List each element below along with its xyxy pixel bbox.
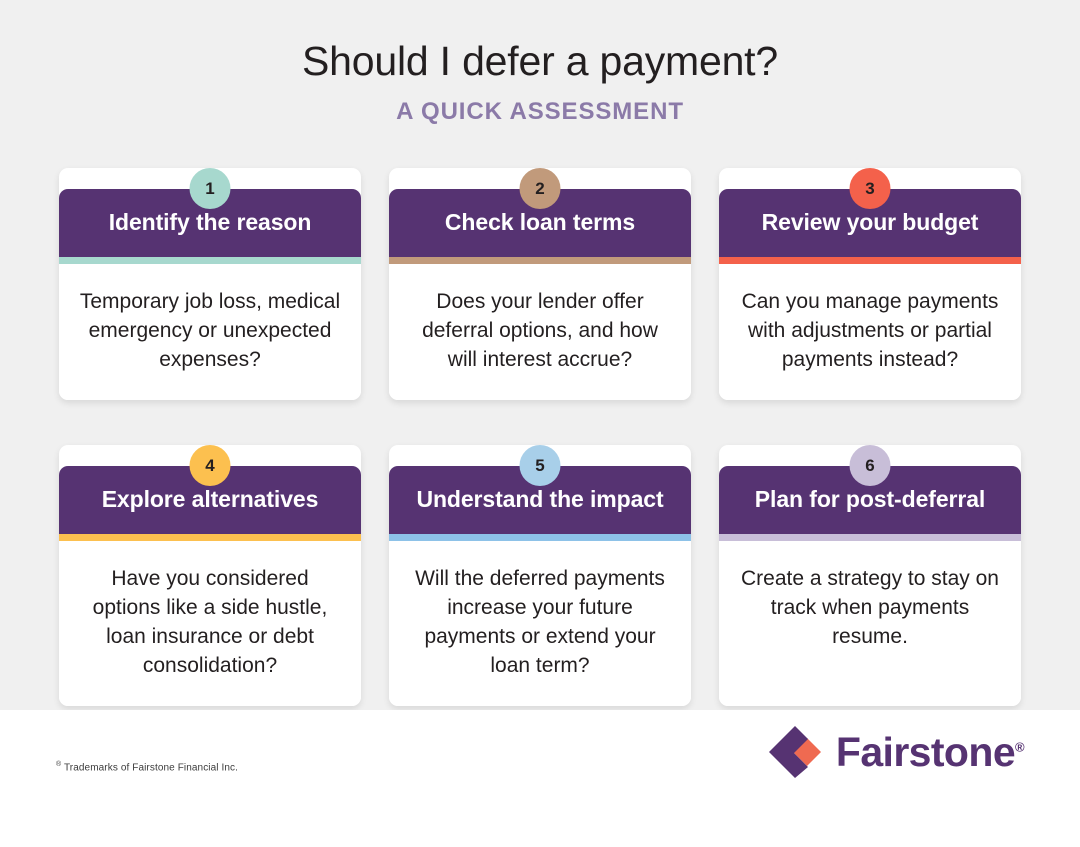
page-subtitle: A QUICK ASSESSMENT xyxy=(0,98,1080,126)
infographic-page: Should I defer a payment? A QUICK ASSESS… xyxy=(0,0,1080,847)
step-card-body: Have you considered options like a side … xyxy=(59,541,361,706)
step-card-inner: Review your budgetCan you manage payment… xyxy=(719,189,1021,400)
steps-grid: Identify the reasonTemporary job loss, m… xyxy=(59,168,1021,706)
step-card-inner: Identify the reasonTemporary job loss, m… xyxy=(59,189,361,400)
trademark-notice: ® Trademarks of Fairstone Financial Inc. xyxy=(56,761,238,773)
page-footer: ® Trademarks of Fairstone Financial Inc.… xyxy=(0,710,1080,847)
step-number-badge: 1 xyxy=(190,168,231,209)
step-card: Plan for post-deferralCreate a strategy … xyxy=(719,445,1021,706)
step-card: Check loan termsDoes your lender offer d… xyxy=(389,168,691,400)
fairstone-logo: Fairstone® xyxy=(767,724,1024,780)
step-card-body: Does your lender offer deferral options,… xyxy=(389,264,691,400)
fairstone-diamond-chevron-logo-icon xyxy=(767,724,823,780)
step-card: Review your budgetCan you manage payment… xyxy=(719,168,1021,400)
step-number-badge: 5 xyxy=(520,445,561,486)
step-card-body: Can you manage payments with adjustments… xyxy=(719,264,1021,400)
step-accent-bar xyxy=(389,257,691,264)
step-card-body: Will the deferred payments increase your… xyxy=(389,541,691,706)
step-accent-bar xyxy=(719,257,1021,264)
step-card-inner: Plan for post-deferralCreate a strategy … xyxy=(719,466,1021,706)
fairstone-wordmark-text: Fairstone xyxy=(836,729,1015,775)
step-card-inner: Understand the impactWill the deferred p… xyxy=(389,466,691,706)
step-card: Explore alternativesHave you considered … xyxy=(59,445,361,706)
step-card-inner: Check loan termsDoes your lender offer d… xyxy=(389,189,691,400)
step-card: Identify the reasonTemporary job loss, m… xyxy=(59,168,361,400)
step-card-inner: Explore alternativesHave you considered … xyxy=(59,466,361,706)
step-card-body: Create a strategy to stay on track when … xyxy=(719,541,1021,706)
fairstone-registered-symbol: ® xyxy=(1015,739,1024,754)
step-card: Understand the impactWill the deferred p… xyxy=(389,445,691,706)
fairstone-wordmark: Fairstone® xyxy=(836,732,1024,773)
step-accent-bar xyxy=(389,534,691,541)
trademark-text: Trademarks of Fairstone Financial Inc. xyxy=(61,762,238,773)
step-number-badge: 6 xyxy=(850,445,891,486)
step-number-badge: 2 xyxy=(520,168,561,209)
step-accent-bar xyxy=(719,534,1021,541)
page-header: Should I defer a payment? A QUICK ASSESS… xyxy=(0,0,1080,126)
step-accent-bar xyxy=(59,257,361,264)
step-number-badge: 4 xyxy=(190,445,231,486)
page-title: Should I defer a payment? xyxy=(0,38,1080,86)
step-number-badge: 3 xyxy=(850,168,891,209)
step-accent-bar xyxy=(59,534,361,541)
step-card-body: Temporary job loss, medical emergency or… xyxy=(59,264,361,400)
